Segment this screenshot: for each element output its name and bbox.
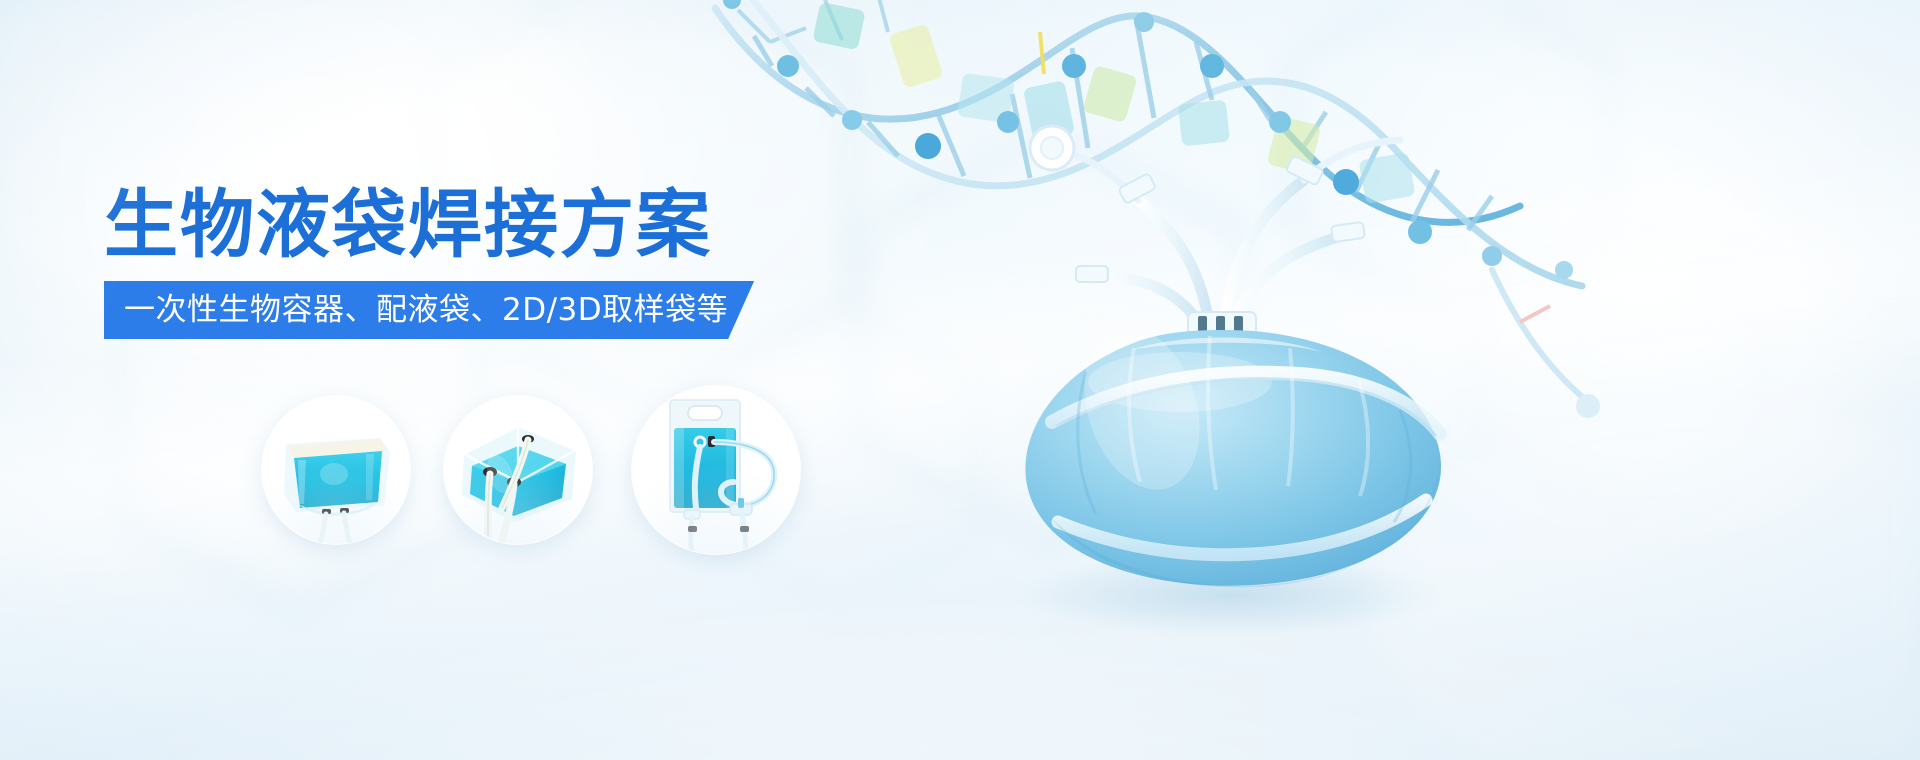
- thumbnail-sampling-bag[interactable]: [632, 386, 800, 554]
- thumbnail-3d-cube-bag[interactable]: [444, 396, 592, 544]
- sampling-bag-icon: [632, 386, 800, 554]
- pillow-bag-icon: [262, 396, 410, 544]
- subtitle-bar: 一次性生物容器、配液袋、2D/3D取样袋等: [104, 281, 754, 339]
- main-product-3d-bag: [880, 30, 1600, 650]
- thumbnail-2d-pillow-bag[interactable]: [262, 396, 410, 544]
- banner-stage: 生物液袋焊接方案 一次性生物容器、配液袋、2D/3D取样袋等: [0, 0, 1920, 760]
- page-title: 生物液袋焊接方案: [104, 186, 712, 264]
- cube-bag-icon: [444, 396, 592, 544]
- subtitle-text: 一次性生物容器、配液袋、2D/3D取样袋等: [124, 295, 728, 326]
